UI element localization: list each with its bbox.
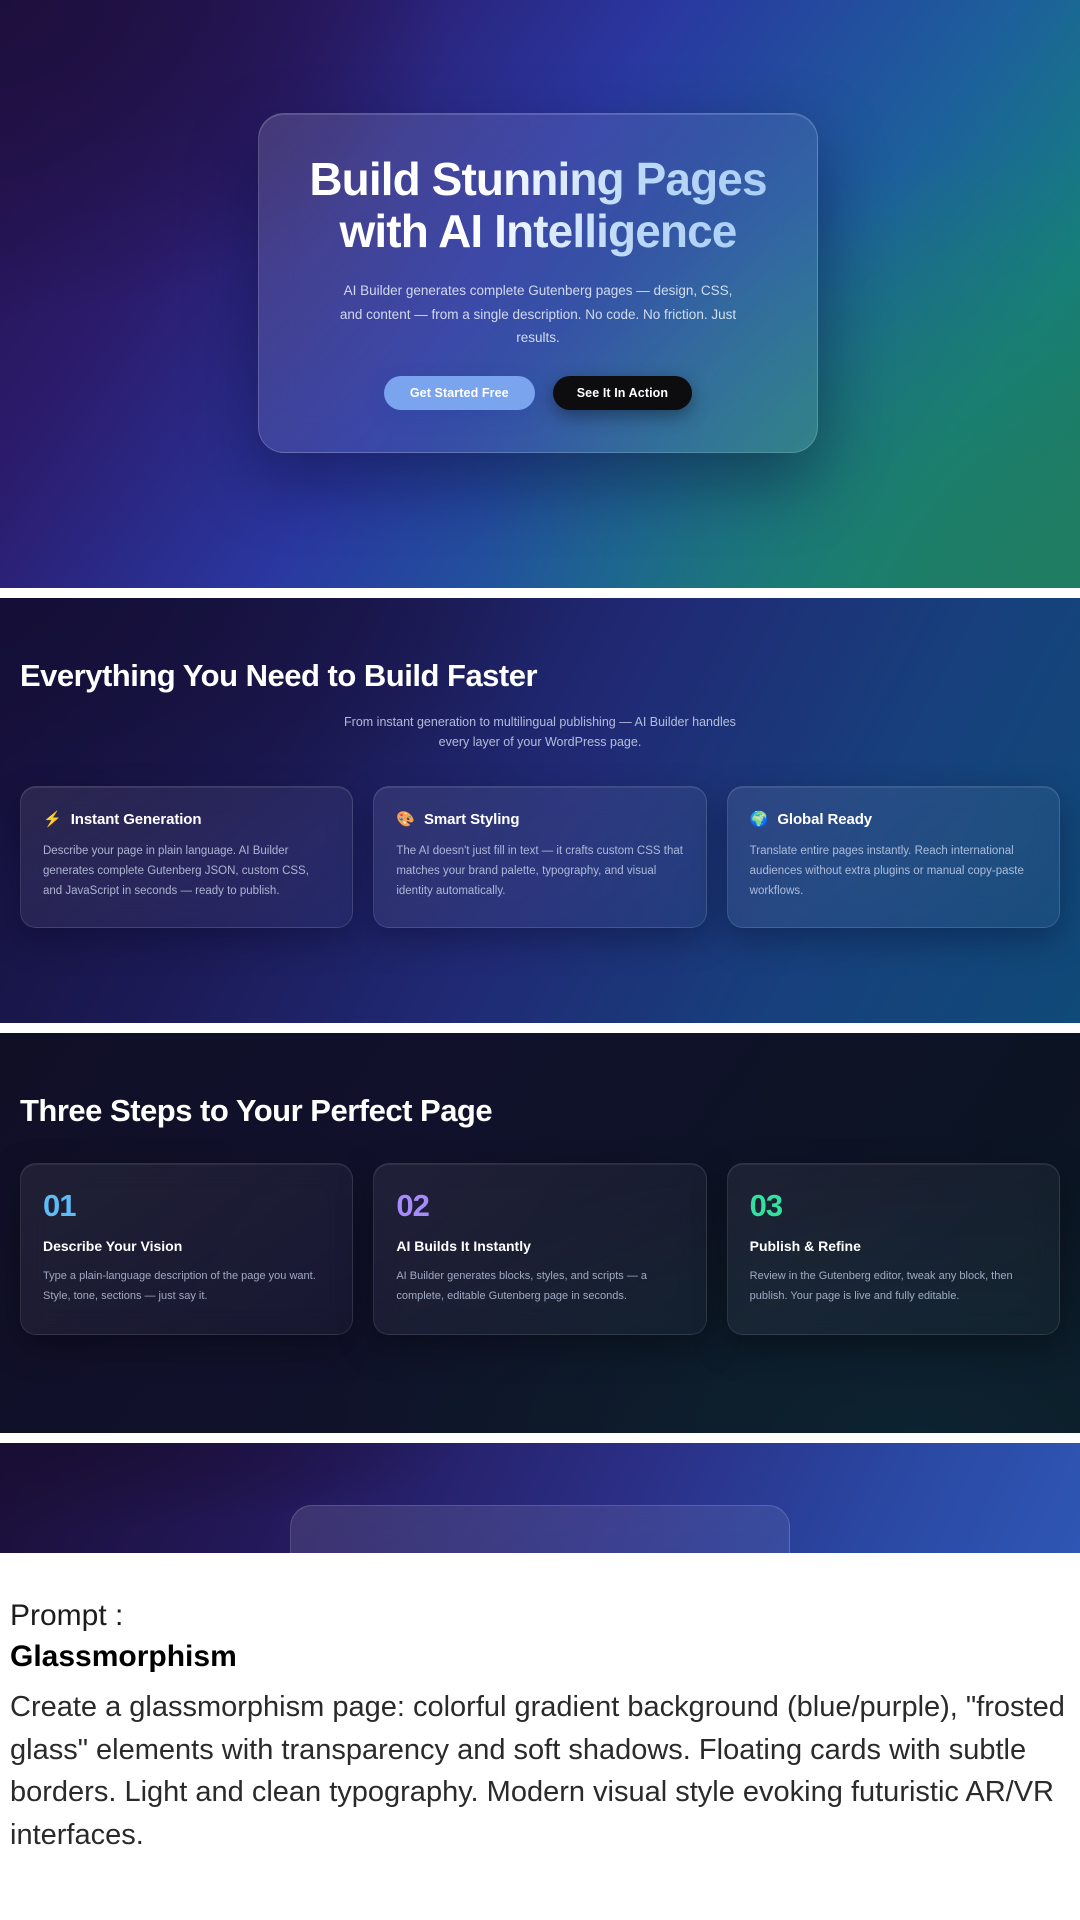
features-section: Everything You Need to Build Faster From… — [0, 598, 1080, 1023]
section-divider — [0, 1433, 1080, 1443]
hero-subtitle: AI Builder generates complete Gutenberg … — [338, 279, 738, 350]
feature-card-smart-styling[interactable]: 🎨 Smart Styling The AI doesn't just fill… — [373, 786, 706, 928]
cta-section-partial — [0, 1443, 1080, 1553]
step-body: Type a plain-language description of the… — [43, 1267, 330, 1306]
step-title: Publish & Refine — [750, 1238, 1037, 1254]
steps-header: Three Steps to Your Perfect Page — [0, 1033, 1080, 1129]
feature-card-global-ready[interactable]: 🌍 Global Ready Translate entire pages in… — [727, 786, 1060, 928]
hero-section: Build Stunning Pages with AI Intelligenc… — [0, 0, 1080, 588]
feature-card-title: Smart Styling — [424, 811, 519, 828]
section-divider — [0, 588, 1080, 598]
cta-glass-card — [290, 1505, 790, 1553]
hero-title-line-1: Build Stunning Pages — [309, 153, 766, 205]
artist-palette-icon: 🎨 — [396, 812, 415, 827]
see-it-in-action-button[interactable]: See It In Action — [553, 376, 692, 410]
prompt-label: Prompt : — [10, 1597, 1070, 1635]
feature-card-header: ⚡ Instant Generation — [43, 811, 330, 828]
feature-card-title: Instant Generation — [71, 811, 202, 828]
feature-card-title: Global Ready — [777, 811, 872, 828]
hero-glass-card: Build Stunning Pages with AI Intelligenc… — [258, 113, 818, 453]
step-body: AI Builder generates blocks, styles, and… — [396, 1267, 683, 1306]
step-title: Describe Your Vision — [43, 1238, 330, 1254]
steps-title: Three Steps to Your Perfect Page — [20, 1093, 1060, 1129]
prompt-text: Create a glassmorphism page: colorful gr… — [10, 1686, 1070, 1857]
step-body: Review in the Gutenberg editor, tweak an… — [750, 1267, 1037, 1306]
step-card-01[interactable]: 01 Describe Your Vision Type a plain-lan… — [20, 1163, 353, 1335]
page-title: Build Stunning Pages with AI Intelligenc… — [309, 154, 766, 257]
page-root: Build Stunning Pages with AI Intelligenc… — [0, 0, 1080, 1920]
step-title: AI Builds It Instantly — [396, 1238, 683, 1254]
prompt-footer: Prompt : Glassmorphism Create a glassmor… — [0, 1553, 1080, 1857]
globe-icon: 🌍 — [750, 812, 769, 827]
step-number: 01 — [43, 1190, 330, 1221]
feature-card-body: Describe your page in plain language. AI… — [43, 842, 330, 901]
prompt-name: Glassmorphism — [10, 1635, 1070, 1679]
step-card-03[interactable]: 03 Publish & Refine Review in the Gutenb… — [727, 1163, 1060, 1335]
lightning-bolt-icon: ⚡ — [43, 812, 62, 827]
get-started-free-button[interactable]: Get Started Free — [384, 376, 535, 410]
feature-card-header: 🎨 Smart Styling — [396, 811, 683, 828]
features-subtitle: From instant generation to multilingual … — [340, 712, 740, 752]
step-number: 03 — [750, 1190, 1037, 1221]
feature-card-header: 🌍 Global Ready — [750, 811, 1037, 828]
section-divider — [0, 1023, 1080, 1033]
steps-card-grid: 01 Describe Your Vision Type a plain-lan… — [0, 1163, 1080, 1335]
hero-title-line-2: with AI Intelligence — [340, 205, 737, 257]
features-card-grid: ⚡ Instant Generation Describe your page … — [0, 786, 1080, 928]
step-card-02[interactable]: 02 AI Builds It Instantly AI Builder gen… — [373, 1163, 706, 1335]
features-title: Everything You Need to Build Faster — [20, 658, 1060, 694]
feature-card-body: Translate entire pages instantly. Reach … — [750, 842, 1037, 901]
feature-card-instant-generation[interactable]: ⚡ Instant Generation Describe your page … — [20, 786, 353, 928]
hero-button-group: Get Started Free See It In Action — [384, 376, 692, 410]
steps-section: Three Steps to Your Perfect Page 01 Desc… — [0, 1033, 1080, 1433]
step-number: 02 — [396, 1190, 683, 1221]
feature-card-body: The AI doesn't just fill in text — it cr… — [396, 842, 683, 901]
features-header: Everything You Need to Build Faster From… — [0, 598, 1080, 752]
